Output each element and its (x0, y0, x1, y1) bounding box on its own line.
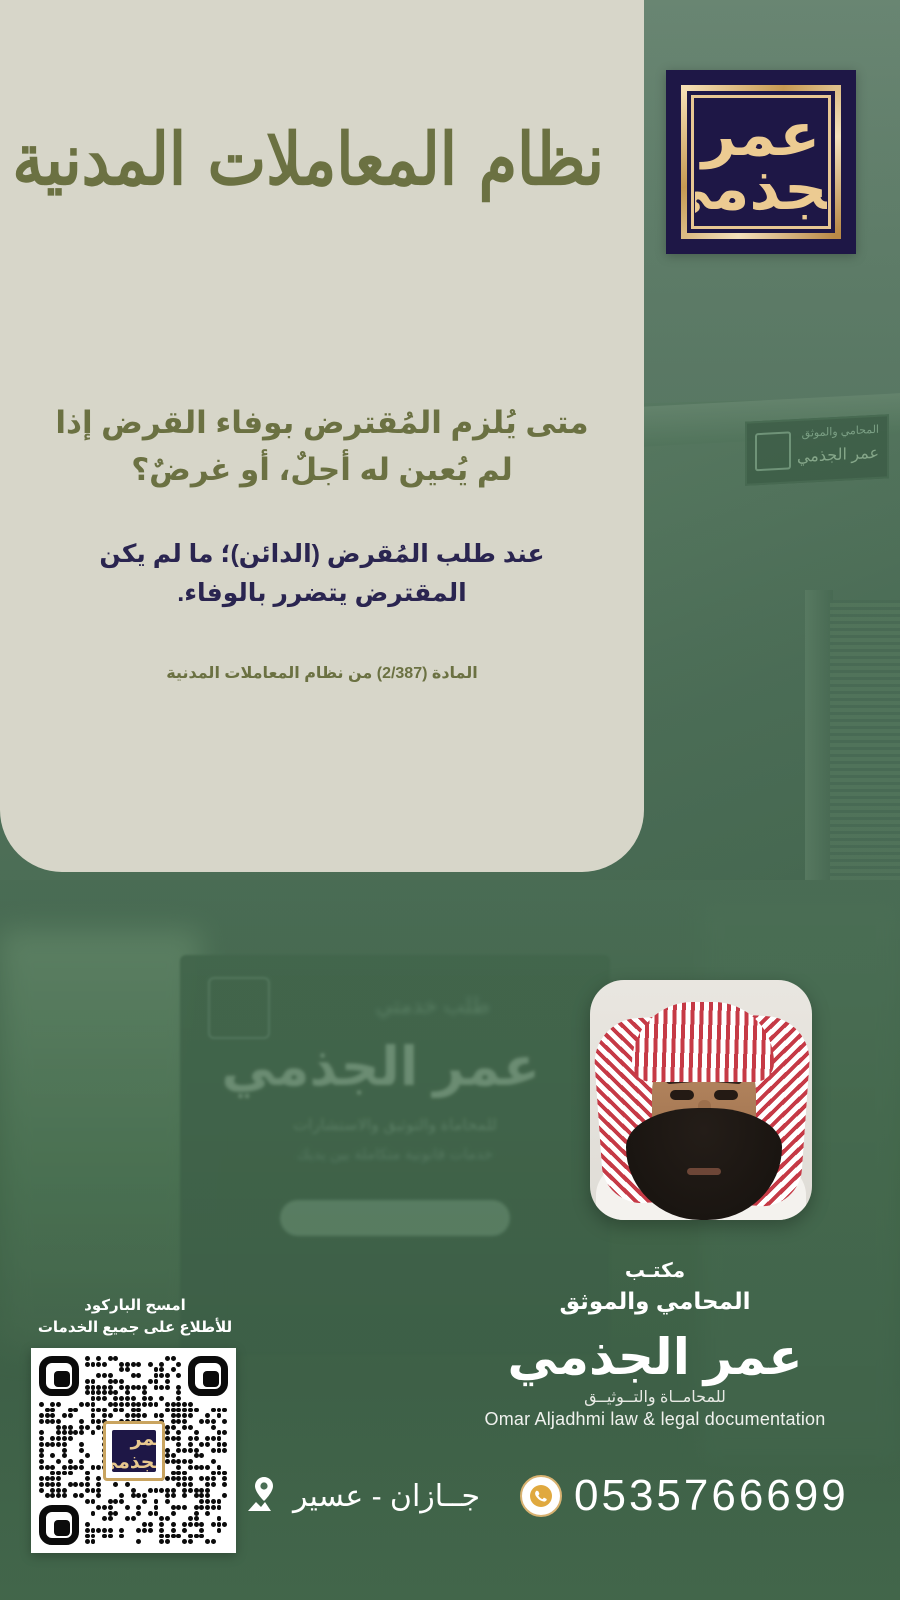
portrait-ghutra-crown (632, 1002, 774, 1082)
location-row: جــازان - عسير (245, 1472, 495, 1520)
brand-name-arabic: عمر الجذمي (440, 1331, 870, 1384)
question-text: متى يُلزم المُقترض بوفاء القرض إذا لم يُ… (34, 400, 610, 493)
qr-caption-line2: للأطلاع على جميع الخدمات (20, 1317, 250, 1339)
qr-caption: امسح الباركود للأطلاع على جميع الخدمات (20, 1295, 250, 1339)
citation-text: المادة (2/387) من نظام المعاملات المدنية (40, 663, 604, 683)
portrait-eye-left (670, 1090, 694, 1100)
brand-subtitle-arabic: للمحامــاة والتــوثيــق (440, 1387, 870, 1407)
qr-code-canvas[interactable]: عمر الجذمي (39, 1356, 228, 1545)
location-text: جــازان - عسير (293, 1479, 480, 1514)
qr-code[interactable]: عمر الجذمي (31, 1348, 236, 1553)
brand-subtitle-english: Omar Aljadhmi law & legal documentation (440, 1409, 870, 1430)
whatsapp-icon[interactable] (520, 1475, 562, 1517)
emblem-kufic-mark: عمر الجذمي (695, 99, 827, 225)
brand-line-office: مكتـب (440, 1258, 870, 1283)
headline-calligraphy: نظام المعاملات المدنية (40, 85, 604, 235)
qr-caption-line1: امسح الباركود (20, 1295, 250, 1317)
phone-contact-row[interactable]: 0535766699 (520, 1470, 880, 1522)
portrait-eye-right (714, 1090, 738, 1100)
phone-number[interactable]: 0535766699 (574, 1471, 849, 1521)
lawyer-portrait (590, 980, 812, 1220)
qr-center-logo: عمر الجذمي (103, 1421, 165, 1481)
qr-center-logo-mark: عمر الجذمي (112, 1430, 156, 1472)
map-pin-icon (245, 1474, 283, 1519)
brand-line-role: المحامي والموثق (440, 1288, 870, 1315)
brand-block: مكتـب المحامي والموثق عمر الجذمي للمحامـ… (440, 1258, 870, 1430)
poster-root: المحامي والموثق عمر الجذمي طلب خدمتي عمر… (0, 0, 900, 1600)
brand-emblem-logo: عمر الجذمي (666, 70, 856, 254)
portrait-mouth (687, 1168, 721, 1175)
content-card: نظام المعاملات المدنية متى يُلزم المُقتر… (0, 0, 644, 872)
answer-text: عند طلب المُقرض (الدائن)؛ ما لم يكن المق… (40, 535, 604, 613)
